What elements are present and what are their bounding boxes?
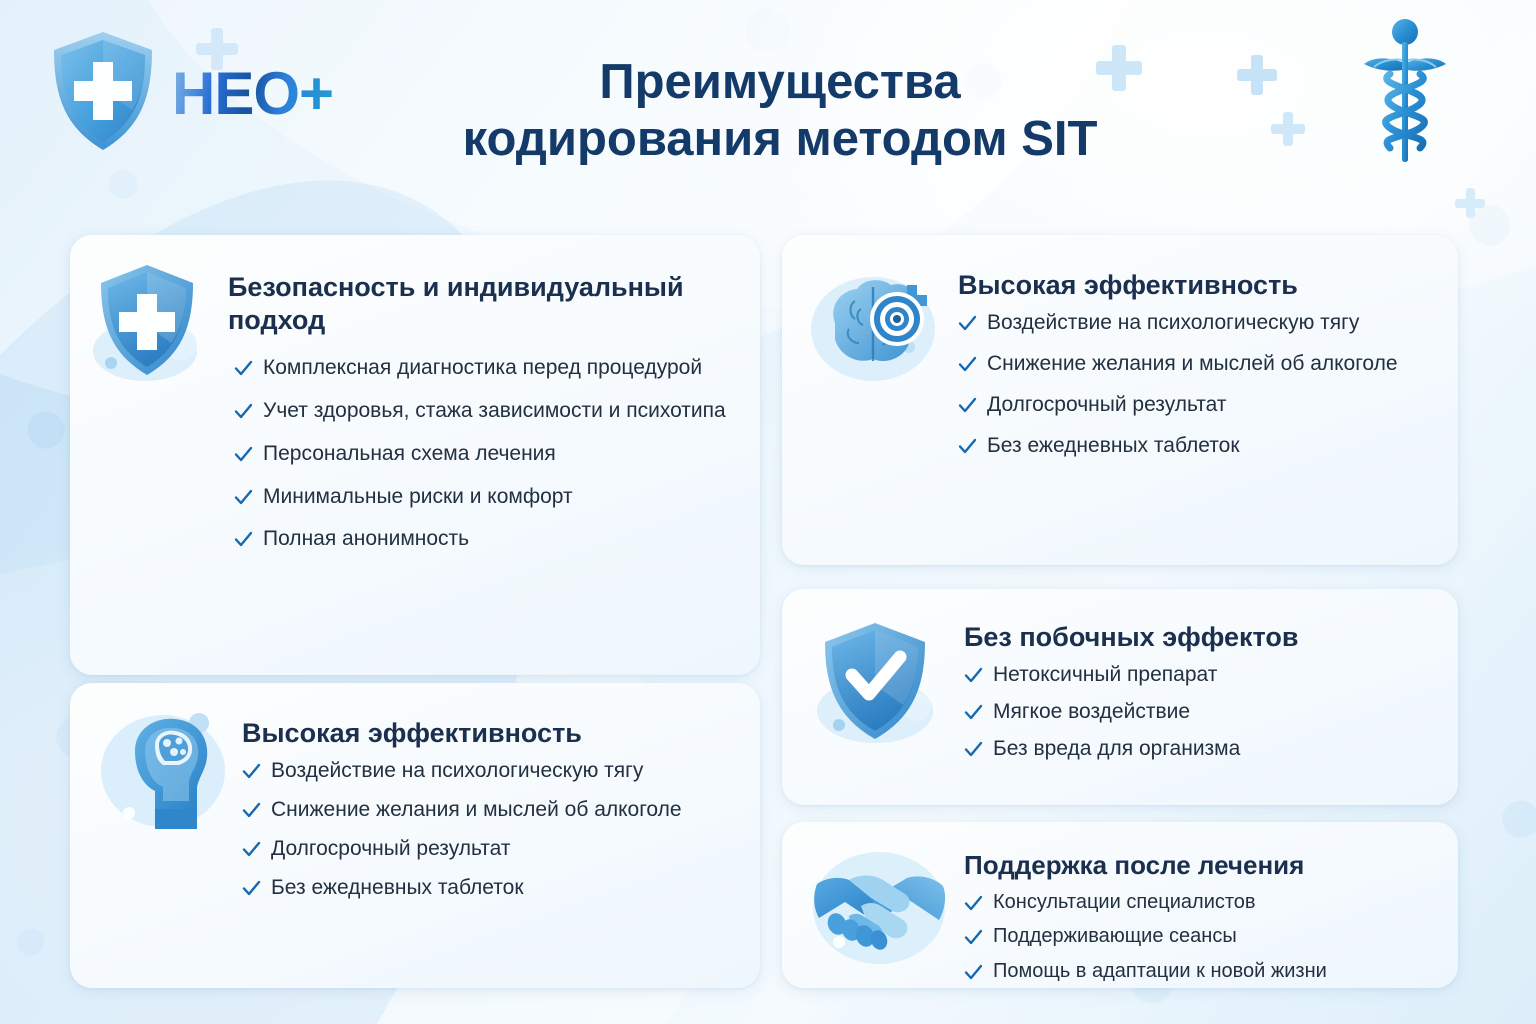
- caduceus-icon: [1362, 16, 1448, 173]
- head-brain-icon: [93, 707, 233, 835]
- list-item: Долгосрочный результат: [242, 836, 738, 863]
- list-item-label: Помощь в адаптации к новой жизни: [993, 959, 1327, 985]
- benefit-list: Комплексная диагностика перед процедурой…: [228, 355, 738, 553]
- card-title: Поддержка после лечения: [964, 850, 1436, 882]
- list-item-label: Поддерживающие сеансы: [993, 924, 1237, 950]
- card-body: Безопасность и индивидуальный подход Ком…: [208, 253, 738, 657]
- card-body: Высокая эффективность Воздействие на пси…: [238, 701, 738, 970]
- card-icon-wrapper: [800, 840, 960, 970]
- list-item-label: Мягкое воздействие: [993, 699, 1190, 726]
- check-icon: [964, 894, 983, 913]
- list-item: Минимальные риски и комфорт: [234, 484, 738, 511]
- page-title: Преимущества кодирования методом SIT: [300, 54, 1260, 168]
- check-icon: [234, 402, 253, 421]
- benefit-list: Консультации специалистов Поддерживающие…: [964, 890, 1436, 985]
- check-icon: [964, 928, 983, 947]
- list-item: Нетоксичный препарат: [964, 662, 1436, 689]
- card-body: Высокая эффективность Воздействие на пси…: [950, 253, 1436, 547]
- list-item: Учет здоровья, стажа зависимости и психо…: [234, 398, 738, 425]
- list-item-label: Снижение желания и мыслей об алкоголе: [987, 351, 1398, 378]
- card-title: Безопасность и индивидуальный подход: [228, 271, 738, 337]
- list-item: Мягкое воздействие: [964, 699, 1436, 726]
- list-item: Без ежедневных таблеток: [242, 875, 738, 902]
- check-icon: [964, 963, 983, 982]
- handshake-icon: [805, 846, 955, 970]
- brand-logo[interactable]: НЕО+: [48, 28, 333, 159]
- check-icon: [242, 801, 261, 820]
- shield-cross-icon: [48, 28, 158, 159]
- benefit-list: Воздействие на психологическую тягу Сниж…: [958, 310, 1436, 460]
- list-item: Полная анонимность: [234, 526, 738, 553]
- header: НЕО+ Преимущества кодирования методом SI…: [0, 0, 1536, 215]
- list-item: Снижение желания и мыслей об алкоголе: [242, 797, 738, 824]
- check-icon: [234, 488, 253, 507]
- check-icon: [958, 437, 977, 456]
- page-title-line2: кодирования методом SIT: [300, 111, 1260, 168]
- check-icon: [242, 879, 261, 898]
- check-icon: [234, 445, 253, 464]
- list-item-label: Нетоксичный препарат: [993, 662, 1217, 689]
- card-icon-wrapper: [88, 253, 208, 657]
- list-item-label: Полная анонимность: [263, 526, 469, 553]
- list-item: Консультации специалистов: [964, 890, 1436, 916]
- list-item: Персональная схема лечения: [234, 441, 738, 468]
- list-item: Без вреда для организма: [964, 736, 1436, 763]
- check-icon: [242, 840, 261, 859]
- card-no-side-effects: Без побочных эффектов Нетоксичный препар…: [782, 589, 1458, 805]
- benefit-list: Нетоксичный препарат Мягкое воздействие …: [964, 662, 1436, 763]
- list-item-label: Минимальные риски и комфорт: [263, 484, 573, 511]
- shield-cross-icon: [89, 259, 207, 389]
- list-item-label: Воздействие на психологическую тягу: [987, 310, 1359, 337]
- list-item-label: Без вреда для организма: [993, 736, 1240, 763]
- card-icon-wrapper: [88, 701, 238, 970]
- list-item-label: Долгосрочный результат: [271, 836, 511, 863]
- list-item-label: Долгосрочный результат: [987, 392, 1227, 419]
- check-icon: [964, 703, 983, 722]
- shield-check-icon: [805, 615, 955, 755]
- list-item: Воздействие на психологическую тягу: [958, 310, 1436, 337]
- list-item-label: Воздействие на психологическую тягу: [271, 758, 643, 785]
- card-safety-individual-approach: Безопасность и индивидуальный подход Ком…: [70, 235, 760, 675]
- card-body: Поддержка после лечения Консультации спе…: [960, 840, 1436, 970]
- brain-target-icon: [805, 263, 945, 389]
- check-icon: [958, 396, 977, 415]
- list-item-label: Консультации специалистов: [993, 890, 1256, 916]
- card-high-efficiency-left: Высокая эффективность Воздействие на пси…: [70, 683, 760, 988]
- list-item: Снижение желания и мыслей об алкоголе: [958, 351, 1436, 378]
- card-icon-wrapper: [800, 607, 960, 787]
- check-icon: [234, 530, 253, 549]
- card-title: Без побочных эффектов: [964, 621, 1436, 654]
- list-item-label: Без ежедневных таблеток: [271, 875, 524, 902]
- list-item: Помощь в адаптации к новой жизни: [964, 959, 1436, 985]
- list-item-label: Снижение желания и мыслей об алкоголе: [271, 797, 682, 824]
- infographic-poster: НЕО+ Преимущества кодирования методом SI…: [0, 0, 1536, 1024]
- list-item: Без ежедневных таблеток: [958, 433, 1436, 460]
- list-item-label: Комплексная диагностика перед процедурой: [263, 355, 702, 382]
- check-icon: [234, 359, 253, 378]
- check-icon: [964, 740, 983, 759]
- list-item-label: Без ежедневных таблеток: [987, 433, 1240, 460]
- card-support-after-treatment: Поддержка после лечения Консультации спе…: [782, 822, 1458, 988]
- check-icon: [964, 666, 983, 685]
- card-body: Без побочных эффектов Нетоксичный препар…: [960, 607, 1436, 787]
- list-item: Комплексная диагностика перед процедурой: [234, 355, 738, 382]
- check-icon: [958, 314, 977, 333]
- page-title-line1: Преимущества: [300, 54, 1260, 111]
- list-item: Воздействие на психологическую тягу: [242, 758, 738, 785]
- check-icon: [242, 762, 261, 781]
- card-title: Высокая эффективность: [242, 717, 738, 750]
- card-icon-wrapper: [800, 253, 950, 547]
- list-item-label: Учет здоровья, стажа зависимости и психо…: [263, 398, 726, 425]
- card-high-efficiency-right: Высокая эффективность Воздействие на пси…: [782, 235, 1458, 565]
- list-item: Долгосрочный результат: [958, 392, 1436, 419]
- check-icon: [958, 355, 977, 374]
- list-item-label: Персональная схема лечения: [263, 441, 556, 468]
- list-item: Поддерживающие сеансы: [964, 924, 1436, 950]
- benefit-list: Воздействие на психологическую тягу Сниж…: [242, 758, 738, 902]
- card-title: Высокая эффективность: [958, 269, 1436, 302]
